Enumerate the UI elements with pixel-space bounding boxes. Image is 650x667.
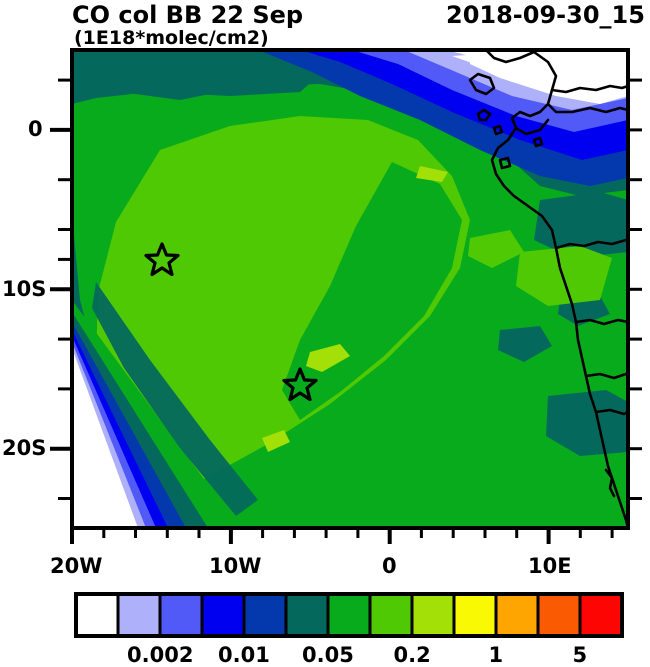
colorbar-segment-5[interactable] [286,594,328,636]
colorbar-segment-1[interactable] [118,594,160,636]
x-axis-ticks [72,528,612,544]
y-tick-label-1: 10S [2,277,46,301]
y-tick-label-2: 20S [2,436,46,460]
colorbar-segment-7[interactable] [370,594,412,636]
colorbar-segment-8[interactable] [412,594,454,636]
colorbar-tick-label-4: 1 [489,643,504,667]
colorbar-segment-9[interactable] [454,594,496,636]
x-tick-label-0: 20W [50,554,102,578]
page-title: CO col BB 22 Sep [72,1,303,29]
x-tick-label-2: 0 [382,554,397,578]
x-tick-label-1: 10W [209,554,261,578]
units-label: (1E18*molec/cm2) [74,27,269,49]
colorbar[interactable] [76,594,622,636]
timestamp-label: 2018-09-30_15 [446,1,645,29]
colorbar-tick-label-5: 5 [573,643,588,667]
colorbar-segment-10[interactable] [496,594,538,636]
contour-field [72,50,628,528]
colorbar-tick-label-3: 0.2 [394,643,431,667]
colorbar-segment-3[interactable] [202,594,244,636]
colorbar-segment-6[interactable] [328,594,370,636]
colorbar-segment-4[interactable] [244,594,286,636]
x-tick-label-3: 10E [528,554,572,578]
colorbar-segment-0[interactable] [76,594,118,636]
colorbar-segment-11[interactable] [538,594,580,636]
colorbar-tick-label-1: 0.01 [218,643,270,667]
colorbar-tick-label-0: 0.002 [127,643,193,667]
colorbar-segment-2[interactable] [160,594,202,636]
colorbar-tick-label-2: 0.05 [302,643,354,667]
y-tick-label-0: 0 [28,117,43,141]
figure-panel: CO col BB 22 Sep (1E18*molec/cm2) 2018-0… [0,0,650,667]
colorbar-segment-12[interactable] [580,594,622,636]
